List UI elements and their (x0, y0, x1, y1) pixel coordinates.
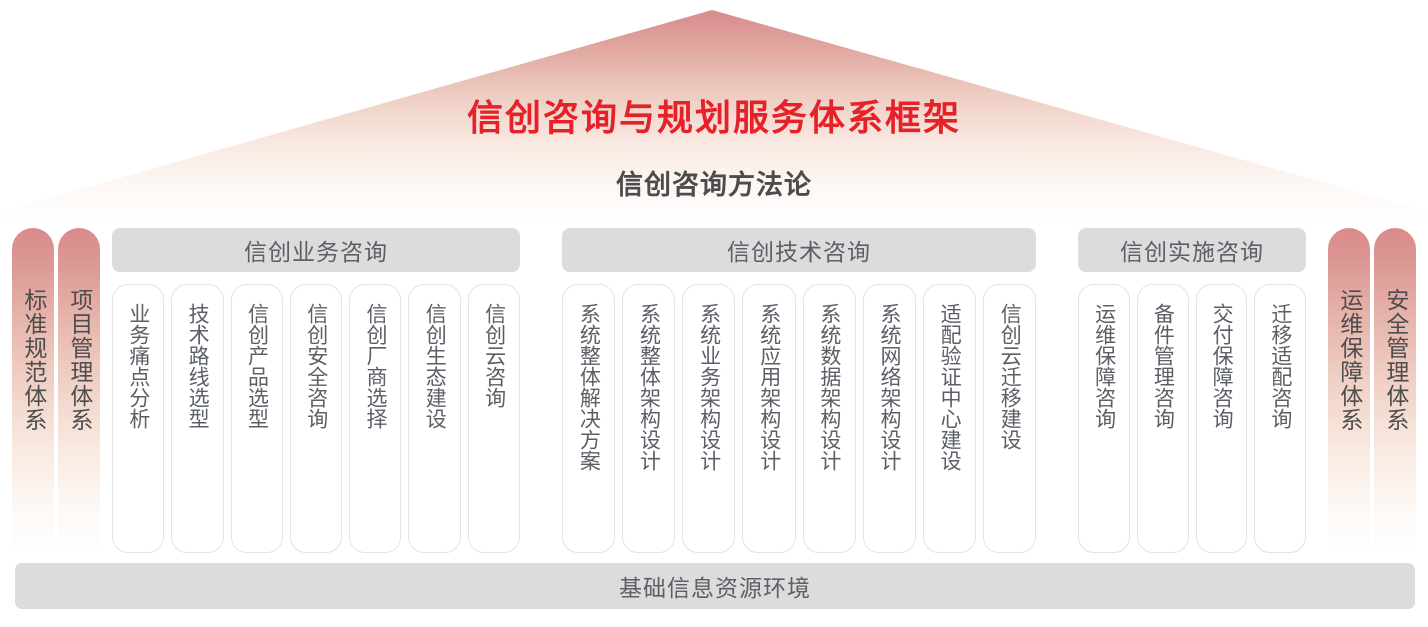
pillar-label: 项目管理体系 (66, 288, 92, 432)
item-label: 信创产品选型 (245, 303, 269, 429)
item-label: 系统网络架构设计 (877, 303, 901, 471)
group-header-implementation[interactable]: 信创实施咨询 (1078, 228, 1306, 272)
group-technical-consulting: 信创技术咨询 系统整体解决方案 系统整体架构设计 系统业务架构设计 系统应用架构… (562, 228, 1036, 553)
item-label: 迁移适配咨询 (1268, 303, 1292, 429)
item-label: 系统整体解决方案 (577, 303, 601, 471)
item-card[interactable]: 备件管理咨询 (1137, 284, 1189, 553)
item-card[interactable]: 系统网络架构设计 (863, 284, 916, 553)
item-card[interactable]: 系统整体解决方案 (562, 284, 615, 553)
item-card[interactable]: 系统整体架构设计 (622, 284, 675, 553)
item-label: 信创厂商选择 (364, 303, 388, 429)
item-card[interactable]: 信创安全咨询 (290, 284, 342, 553)
pillar-project-management[interactable]: 项目管理体系 (58, 228, 100, 553)
item-card[interactable]: 迁移适配咨询 (1254, 284, 1306, 553)
item-label: 备件管理咨询 (1151, 303, 1175, 429)
group-items-technical: 系统整体解决方案 系统整体架构设计 系统业务架构设计 系统应用架构设计 系统数据… (562, 284, 1036, 553)
group-items-implementation: 运维保障咨询 备件管理咨询 交付保障咨询 迁移适配咨询 (1078, 284, 1306, 553)
item-label: 信创生态建设 (423, 303, 447, 429)
item-label: 业务痛点分析 (126, 303, 150, 429)
item-label: 信创云咨询 (482, 303, 506, 408)
item-label: 信创云迁移建设 (998, 303, 1022, 450)
pillar-security-management[interactable]: 安全管理体系 (1374, 228, 1416, 553)
item-label: 系统数据架构设计 (817, 303, 841, 471)
diagram-title: 信创咨询与规划服务体系框架 (0, 96, 1428, 140)
item-label: 交付保障咨询 (1210, 303, 1234, 429)
item-label: 信创安全咨询 (304, 303, 328, 429)
group-implementation-consulting: 信创实施咨询 运维保障咨询 备件管理咨询 交付保障咨询 迁移适配咨询 (1078, 228, 1306, 553)
pillar-label: 运维保障体系 (1336, 288, 1362, 432)
item-card[interactable]: 运维保障咨询 (1078, 284, 1130, 553)
pillar-standard-spec[interactable]: 标准规范体系 (12, 228, 54, 553)
base-foundation-bar[interactable]: 基础信息资源环境 (15, 563, 1415, 609)
item-card[interactable]: 适配验证中心建设 (923, 284, 976, 553)
item-card[interactable]: 信创厂商选择 (349, 284, 401, 553)
pillar-label: 安全管理体系 (1382, 288, 1408, 432)
item-card[interactable]: 信创产品选型 (231, 284, 283, 553)
item-label: 技术路线选型 (186, 303, 210, 429)
pillar-label: 标准规范体系 (20, 288, 46, 432)
diagram-canvas: 信创咨询与规划服务体系框架 信创咨询方法论 标准规范体系 项目管理体系 运维保障… (0, 0, 1428, 627)
item-label: 运维保障咨询 (1092, 303, 1116, 429)
item-label: 系统业务架构设计 (697, 303, 721, 471)
group-items-business: 业务痛点分析 技术路线选型 信创产品选型 信创安全咨询 信创厂商选择 信创生态建… (112, 284, 520, 553)
group-header-business[interactable]: 信创业务咨询 (112, 228, 520, 272)
item-label: 适配验证中心建设 (938, 303, 962, 471)
item-card[interactable]: 信创云迁移建设 (983, 284, 1036, 553)
item-card[interactable]: 信创云咨询 (468, 284, 520, 553)
group-business-consulting: 信创业务咨询 业务痛点分析 技术路线选型 信创产品选型 信创安全咨询 信创厂商选… (112, 228, 520, 553)
item-card[interactable]: 业务痛点分析 (112, 284, 164, 553)
item-card[interactable]: 系统业务架构设计 (682, 284, 735, 553)
diagram-subtitle: 信创咨询方法论 (0, 168, 1428, 202)
item-card[interactable]: 系统数据架构设计 (803, 284, 856, 553)
group-header-technical[interactable]: 信创技术咨询 (562, 228, 1036, 272)
item-label: 系统整体架构设计 (637, 303, 661, 471)
item-card[interactable]: 系统应用架构设计 (742, 284, 795, 553)
item-label: 系统应用架构设计 (757, 303, 781, 471)
pillar-ops-guarantee[interactable]: 运维保障体系 (1328, 228, 1370, 553)
item-card[interactable]: 信创生态建设 (408, 284, 460, 553)
item-card[interactable]: 交付保障咨询 (1196, 284, 1248, 553)
item-card[interactable]: 技术路线选型 (171, 284, 223, 553)
